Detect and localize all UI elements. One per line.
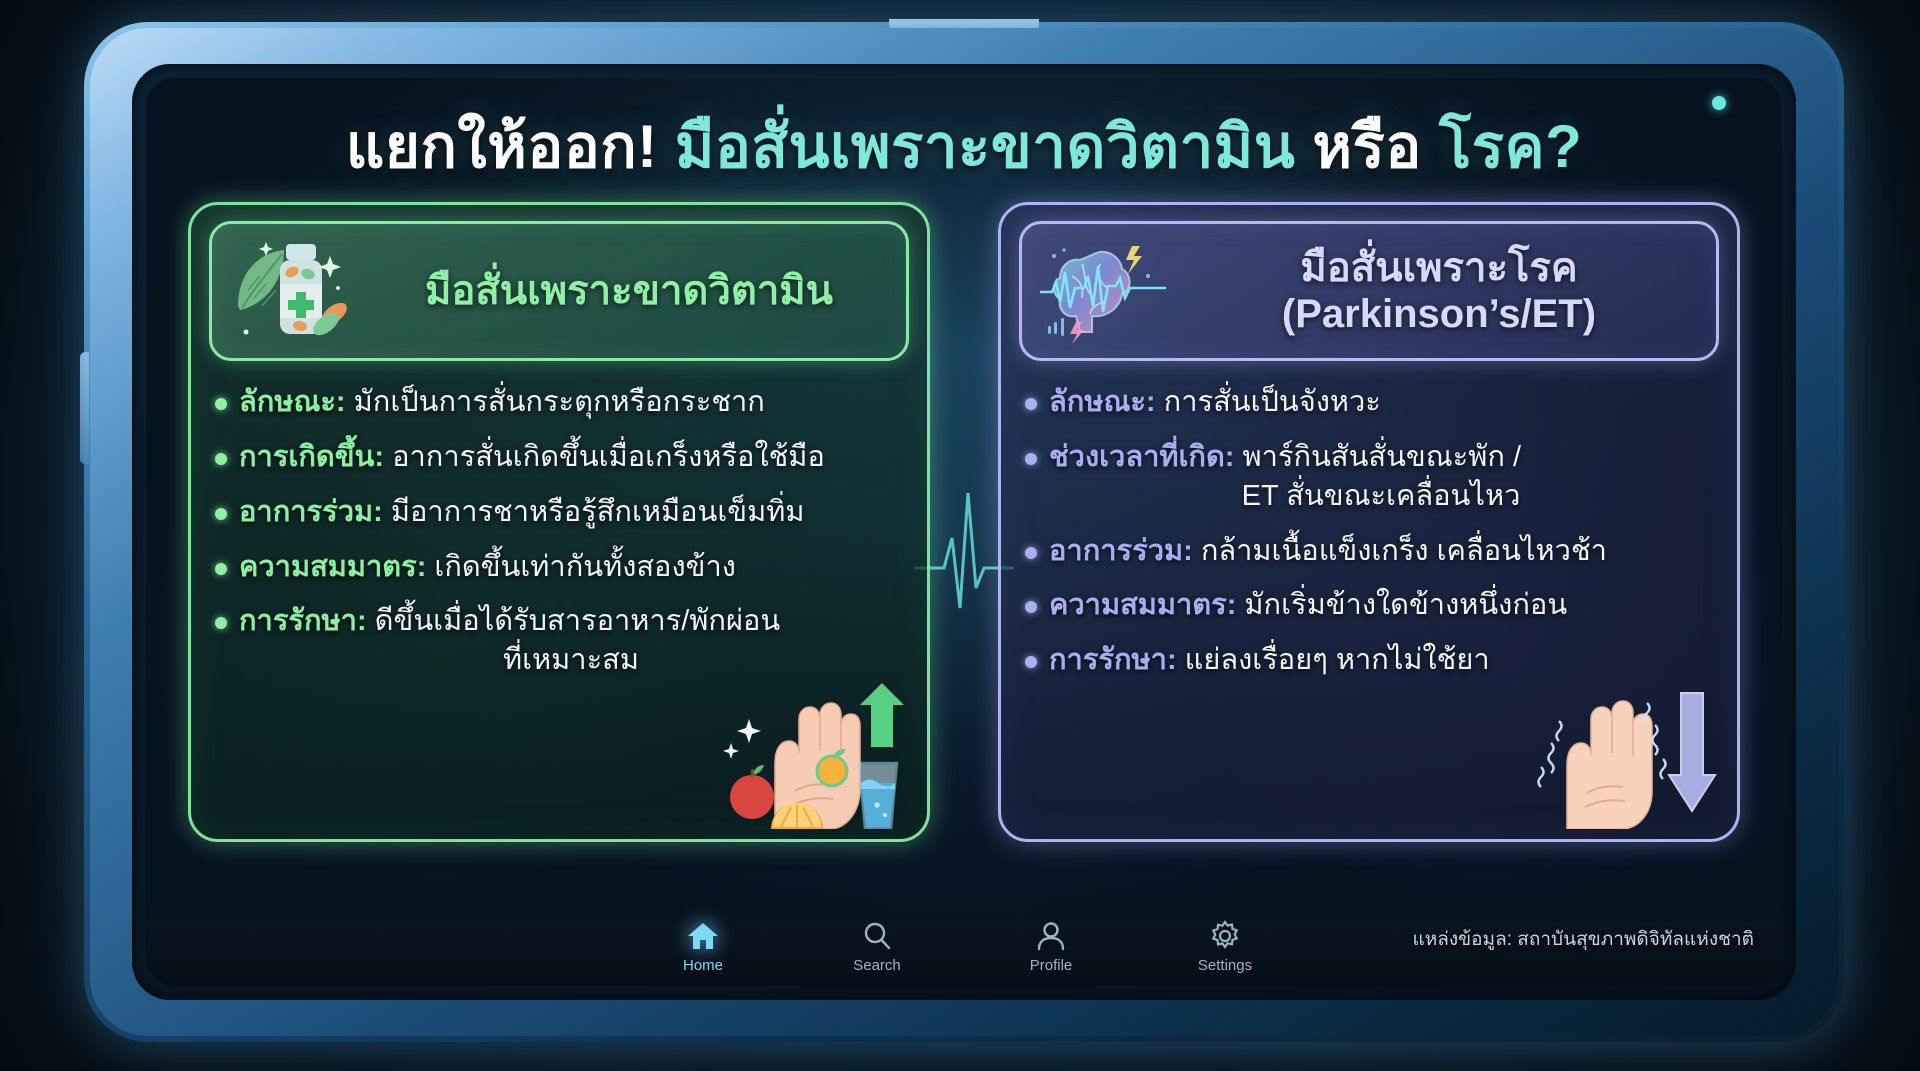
brain-ecg-icon (1040, 236, 1166, 346)
tablet-device-frame: แยกให้ออก! มือสั่นเพราะขาดวิตามิน หรือ โ… (84, 22, 1844, 1042)
bullet-dot-icon (215, 563, 227, 575)
profile-icon (1034, 919, 1068, 953)
card-vitamin-header: มือสั่นเพราะขาดวิตามิน (209, 221, 909, 361)
bullet-text: แย่ลงเรื่อยๆ หากไม่ใช้ยา (1177, 644, 1490, 676)
bullet-label: ความสมมาตร: (1049, 589, 1236, 621)
settings-gear-icon (1208, 919, 1242, 953)
hand-fruit-water-up-arrow-icon (719, 679, 909, 829)
card-disease: มือสั่นเพราะโรค (Parkinson’s/ET) ลักษณะ:… (998, 202, 1740, 842)
nav-label-settings: Settings (1198, 957, 1252, 974)
bullet-label: ความสมมาตร: (239, 551, 426, 583)
bullet-text: พาร์กินสันสั่นขณะพัก / (1234, 441, 1521, 473)
bullet-label: ช่วงเวลาที่เกิด: (1049, 441, 1234, 473)
bullet-text: ดีขึ้นเมื่อได้รับสารอาหาร/พักผ่อน (367, 605, 781, 637)
list-item: อาการร่วม: กล้ามเนื้อแข็งเกร็ง เคลื่อนไห… (1025, 532, 1713, 571)
bullet-label: ลักษณะ: (1049, 386, 1156, 418)
list-item: การเกิดขึ้น: อาการสั่นเกิดขึ้นเมื่อเกร็ง… (215, 438, 903, 477)
bullet-text: อาการสั่นเกิดขึ้นเมื่อเกร็งหรือใช้มือ (384, 441, 825, 473)
home-icon (686, 919, 720, 953)
tablet-screen: แยกให้ออก! มือสั่นเพราะขาดวิตามิน หรือ โ… (146, 78, 1782, 986)
bullet-dot-icon (1025, 601, 1037, 613)
trembling-hand-down-arrow-icon (1529, 679, 1719, 829)
bullet-label: อาการร่วม: (239, 496, 383, 528)
title-segment-1: แยกให้ออก! (346, 113, 675, 180)
list-item: ช่วงเวลาที่เกิด: พาร์กินสันสั่นขณะพัก /E… (1025, 438, 1713, 516)
bullet-dot-icon (1025, 453, 1037, 465)
status-indicator-dot-icon (1712, 96, 1726, 110)
card-vitamin-title: มือสั่นเพราะขาดวิตามิน (425, 269, 833, 313)
bullet-dot-icon (1025, 398, 1037, 410)
tablet-bezel: แยกให้ออก! มือสั่นเพราะขาดวิตามิน หรือ โ… (132, 64, 1796, 1000)
bullet-text: กล้ามเนื้อแข็งเกร็ง เคลื่อนไหวช้า (1193, 535, 1607, 567)
bottom-nav-items: Home Search (655, 919, 1273, 974)
card-vitamin-title-block: มือสั่นเพราะขาดวิตามิน (370, 268, 888, 314)
bullet-label: ลักษณะ: (239, 386, 346, 418)
bullet-label: การเกิดขึ้น: (239, 441, 384, 473)
bullet-dot-icon (215, 453, 227, 465)
bullet-text: มีอาการชาหรือรู้สึกเหมือนเข็มทิ่ม (383, 496, 805, 528)
bullet-text: การสั่นเป็นจังหวะ (1156, 386, 1381, 418)
search-icon (860, 919, 894, 953)
card-disease-header: มือสั่นเพราะโรค (Parkinson’s/ET) (1019, 221, 1719, 361)
bullet-dot-icon (1025, 656, 1037, 668)
nav-label-home: Home (683, 957, 723, 974)
list-item: การรักษา: ดีขึ้นเมื่อได้รับสารอาหาร/พักผ… (215, 602, 903, 680)
card-disease-title-block: มือสั่นเพราะโรค (Parkinson’s/ET) (1180, 245, 1698, 338)
bullet-text: มักเริ่มข้างใดข้างหนึ่งก่อน (1236, 589, 1567, 621)
nav-item-settings[interactable]: Settings (1177, 919, 1273, 974)
power-button[interactable] (80, 352, 89, 464)
comparison-cards-row: มือสั่นเพราะขาดวิตามิน ลักษณะ: มักเป็นกา… (146, 180, 1782, 842)
list-item: อาการร่วม: มีอาการชาหรือรู้สึกเหมือนเข็ม… (215, 493, 903, 532)
bullet-wrap-line: ที่เหมาะสม (239, 641, 903, 680)
bullet-dot-icon (1025, 547, 1037, 559)
bullet-wrap-line: ET สั่นขณะเคลื่อนไหว (1049, 477, 1713, 516)
list-item: ลักษณะ: มักเป็นการสั่นกระตุกหรือกระชาก (215, 383, 903, 422)
bullet-dot-icon (215, 398, 227, 410)
title-segment-2: มือสั่นเพราะขาดวิตามิน (675, 113, 1296, 180)
list-item: การรักษา: แย่ลงเรื่อยๆ หากไม่ใช้ยา (1025, 641, 1713, 680)
list-item: ความสมมาตร: มักเริ่มข้างใดข้างหนึ่งก่อน (1025, 586, 1713, 625)
source-attribution: แหล่งข้อมูล: สถาบันสุขภาพดิจิทัลแห่งชาติ (1412, 924, 1754, 954)
bullet-dot-icon (215, 617, 227, 629)
title-segment-4: โรค? (1439, 113, 1582, 180)
page-title: แยกให้ออก! มือสั่นเพราะขาดวิตามิน หรือ โ… (146, 78, 1782, 180)
nav-item-profile[interactable]: Profile (1003, 919, 1099, 974)
nav-label-search: Search (853, 957, 901, 974)
nav-label-profile: Profile (1030, 957, 1073, 974)
bullet-dot-icon (215, 508, 227, 520)
title-segment-3: หรือ (1295, 113, 1439, 180)
background-stage: แยกให้ออก! มือสั่นเพราะขาดวิตามิน หรือ โ… (0, 0, 1920, 1071)
bullet-text: เกิดขึ้นเท่ากันทั้งสองข้าง (426, 551, 736, 583)
card-disease-subtitle: (Parkinson’s/ET) (1180, 291, 1698, 337)
bullet-label: การรักษา: (239, 605, 367, 637)
card-vitamin-bullet-list: ลักษณะ: มักเป็นการสั่นกระตุกหรือกระชาก ก… (209, 383, 909, 680)
bullet-label: อาการร่วม: (1049, 535, 1193, 567)
card-vitamin-deficiency: มือสั่นเพราะขาดวิตามิน ลักษณะ: มักเป็นกา… (188, 202, 930, 842)
card-disease-bullet-list: ลักษณะ: การสั่นเป็นจังหวะ ช่วงเวลาที่เกิ… (1019, 383, 1719, 680)
tablet-frame-inner: แยกให้ออก! มือสั่นเพราะขาดวิตามิน หรือ โ… (90, 28, 1838, 1036)
list-item: ลักษณะ: การสั่นเป็นจังหวะ (1025, 383, 1713, 422)
pill-bottle-leaf-icon (230, 236, 356, 346)
list-item: ความสมมาตร: เกิดขึ้นเท่ากันทั้งสองข้าง (215, 548, 903, 587)
bullet-text: มักเป็นการสั่นกระตุกหรือกระชาก (346, 386, 765, 418)
bullet-label: การรักษา: (1049, 644, 1177, 676)
nav-item-search[interactable]: Search (829, 919, 925, 974)
nav-item-home[interactable]: Home (655, 919, 751, 974)
card-disease-title: มือสั่นเพราะโรค (1300, 246, 1577, 290)
